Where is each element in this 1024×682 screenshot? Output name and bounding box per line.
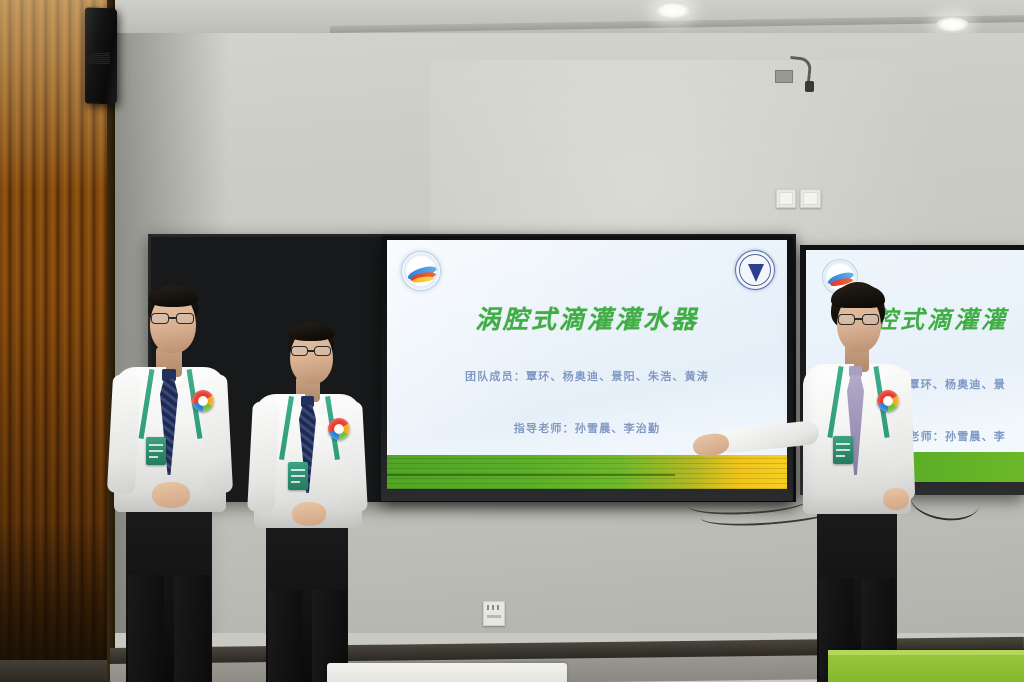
white-table: [327, 663, 567, 682]
switch-rocker-icon[interactable]: [803, 192, 818, 205]
camera-wall-mount: [775, 57, 821, 95]
eyeglasses: [150, 313, 196, 325]
presenter-middle: [248, 322, 378, 682]
hairline: [831, 284, 885, 308]
competition-emblem-logo: [401, 251, 441, 291]
badge-text-line: [149, 444, 163, 446]
event-pin-badge: [328, 418, 350, 440]
badge-text-line: [149, 450, 163, 452]
presenter-left: [108, 285, 243, 682]
glasses-bridge: [169, 317, 176, 319]
clasped-hands: [152, 482, 190, 508]
pin-center: [198, 396, 208, 406]
badge-text-line: [149, 456, 158, 458]
camera-head-icon: [805, 81, 814, 92]
ceiling-downlight-icon: [936, 17, 969, 32]
slide-team-members: 团队成员：覃环、杨奥迪、景阳、朱浩、黄涛: [387, 368, 787, 384]
id-badge: [146, 437, 166, 465]
pin-center: [334, 424, 344, 434]
presentation-scene: 涡腔式滴灌灌水器 团队成员：覃环、杨奥迪、景阳、朱浩、黄涛 指导老师：孙雪晨、李…: [0, 0, 1024, 682]
badge-text-line: [291, 469, 305, 471]
hairline: [288, 323, 334, 341]
outlet-slot-icon: [487, 615, 501, 618]
switch-rocker-icon[interactable]: [779, 192, 793, 205]
green-table-edge: [828, 650, 1024, 655]
slide-field-furrow: [387, 474, 675, 476]
badge-text-line: [291, 481, 300, 483]
arm: [247, 401, 280, 512]
mount-plate: [775, 70, 793, 83]
slide-field-texture: [387, 455, 787, 489]
lens: [176, 313, 194, 324]
id-badge: [288, 462, 308, 490]
event-pin-badge: [877, 390, 899, 412]
slide-title: 涡腔式滴灌灌水器: [387, 300, 787, 336]
glasses-bridge: [308, 350, 314, 352]
lens: [862, 314, 879, 325]
ceiling-downlight-icon: [655, 2, 691, 19]
lens: [151, 313, 169, 324]
lens: [838, 314, 855, 325]
wood-panel-shadow: [0, 520, 113, 682]
eyeglasses: [837, 314, 881, 326]
leg: [174, 575, 210, 682]
presenter-right: [795, 282, 925, 682]
leg: [268, 590, 302, 682]
lens: [314, 346, 331, 356]
badge-text-line: [291, 475, 305, 477]
light-switch[interactable]: [776, 189, 796, 208]
wall-speaker: [85, 7, 117, 104]
light-switch[interactable]: [800, 189, 821, 208]
badge-text-line: [836, 443, 850, 445]
pin-center: [883, 396, 893, 406]
event-pin-badge: [192, 390, 214, 412]
hand: [883, 488, 909, 510]
hairline: [148, 287, 198, 307]
leg: [128, 575, 164, 682]
power-outlet[interactable]: [483, 601, 505, 626]
glasses-bridge: [855, 318, 862, 320]
speaker-grill-icon: [88, 52, 110, 65]
badge-text-line: [836, 449, 850, 451]
eyeglasses: [290, 346, 333, 357]
badge-text-line: [836, 455, 845, 457]
outlet-prong-holes-icon: [487, 605, 501, 610]
lens: [291, 346, 308, 356]
id-badge: [833, 436, 853, 464]
university-seal-logo: [735, 250, 775, 290]
clasped-hands: [292, 502, 326, 526]
